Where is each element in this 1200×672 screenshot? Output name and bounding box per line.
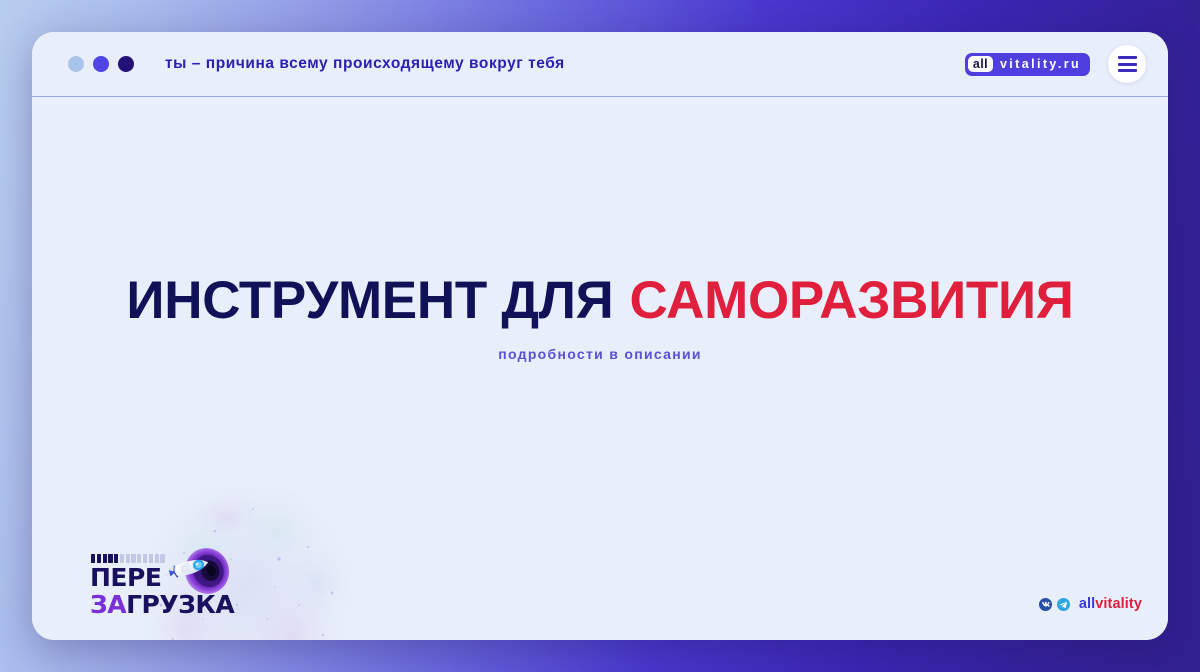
hero-title-primary: ИНСТРУМЕНТ ДЛЯ <box>126 271 613 330</box>
hamburger-icon-bar-3 <box>1118 69 1137 72</box>
hamburger-icon-bar-1 <box>1118 56 1137 59</box>
brand-badge[interactable]: all vitality.ru <box>965 53 1090 76</box>
logo-progress-segment <box>160 554 164 563</box>
window-body: ИНСТРУМЕНТ ДЛЯСАМОРАЗВИТИЯ подробности в… <box>32 97 1168 640</box>
hero-section: ИНСТРУМЕНТ ДЛЯСАМОРАЗВИТИЯ подробности в… <box>32 273 1168 362</box>
logo-progress-segment <box>108 554 112 563</box>
social-handle-prefix: all <box>1079 596 1095 612</box>
logo-progress-segment <box>103 554 107 563</box>
social-handle[interactable]: allvitality <box>1079 596 1142 612</box>
hero-subtitle: подробности в описании <box>32 346 1168 362</box>
logo-word-bottom-rest: ГРУЗКА <box>126 590 234 619</box>
header-right-group: all vitality.ru <box>965 45 1146 83</box>
browser-window-card: ты – причина всему происходящему вокруг … <box>32 32 1168 640</box>
logo-progress-segment <box>143 554 147 563</box>
social-links[interactable]: allvitality <box>1039 596 1142 612</box>
window-dot-dark[interactable] <box>118 56 134 72</box>
logo-progress-segment <box>97 554 101 563</box>
logo-progress-segment <box>120 554 124 563</box>
logo-progress-segment <box>155 554 159 563</box>
window-header: ты – причина всему происходящему вокруг … <box>32 32 1168 97</box>
window-dot-medium[interactable] <box>93 56 109 72</box>
traffic-light-controls <box>68 56 134 72</box>
hamburger-icon-bar-2 <box>1118 63 1137 66</box>
hero-title: ИНСТРУМЕНТ ДЛЯСАМОРАЗВИТИЯ <box>32 273 1168 329</box>
window-dot-light[interactable] <box>68 56 84 72</box>
brand-badge-prefix: all <box>968 56 993 73</box>
logo-progress-segment <box>91 554 95 563</box>
logo-progress-segment <box>126 554 130 563</box>
page-title: ты – причина всему происходящему вокруг … <box>165 55 565 73</box>
hamburger-menu-button[interactable] <box>1108 45 1146 83</box>
logo-word-top: ПЕРЕ <box>90 566 210 590</box>
brand-badge-domain: vitality.ru <box>1000 58 1081 71</box>
telegram-icon[interactable] <box>1057 598 1070 611</box>
logo-progress-segment <box>114 554 118 563</box>
logo-word-bottom: ЗАГРУЗКА <box>90 592 210 617</box>
logo-progress-segment <box>149 554 153 563</box>
logo-wordmark: ПЕРЕ ЗАГРУЗКА <box>90 554 210 617</box>
logo-progress-segment <box>137 554 141 563</box>
logo-word-bottom-accent: ЗА <box>90 590 126 619</box>
hero-title-accent: САМОРАЗВИТИЯ <box>629 271 1073 330</box>
logo-progress-bar-icon <box>91 554 210 563</box>
vk-icon[interactable] <box>1039 598 1052 611</box>
social-handle-name: vitality <box>1095 596 1142 612</box>
perezagruzka-logo[interactable]: ПЕРЕ ЗАГРУЗКА <box>57 544 242 622</box>
logo-progress-segment <box>131 554 135 563</box>
